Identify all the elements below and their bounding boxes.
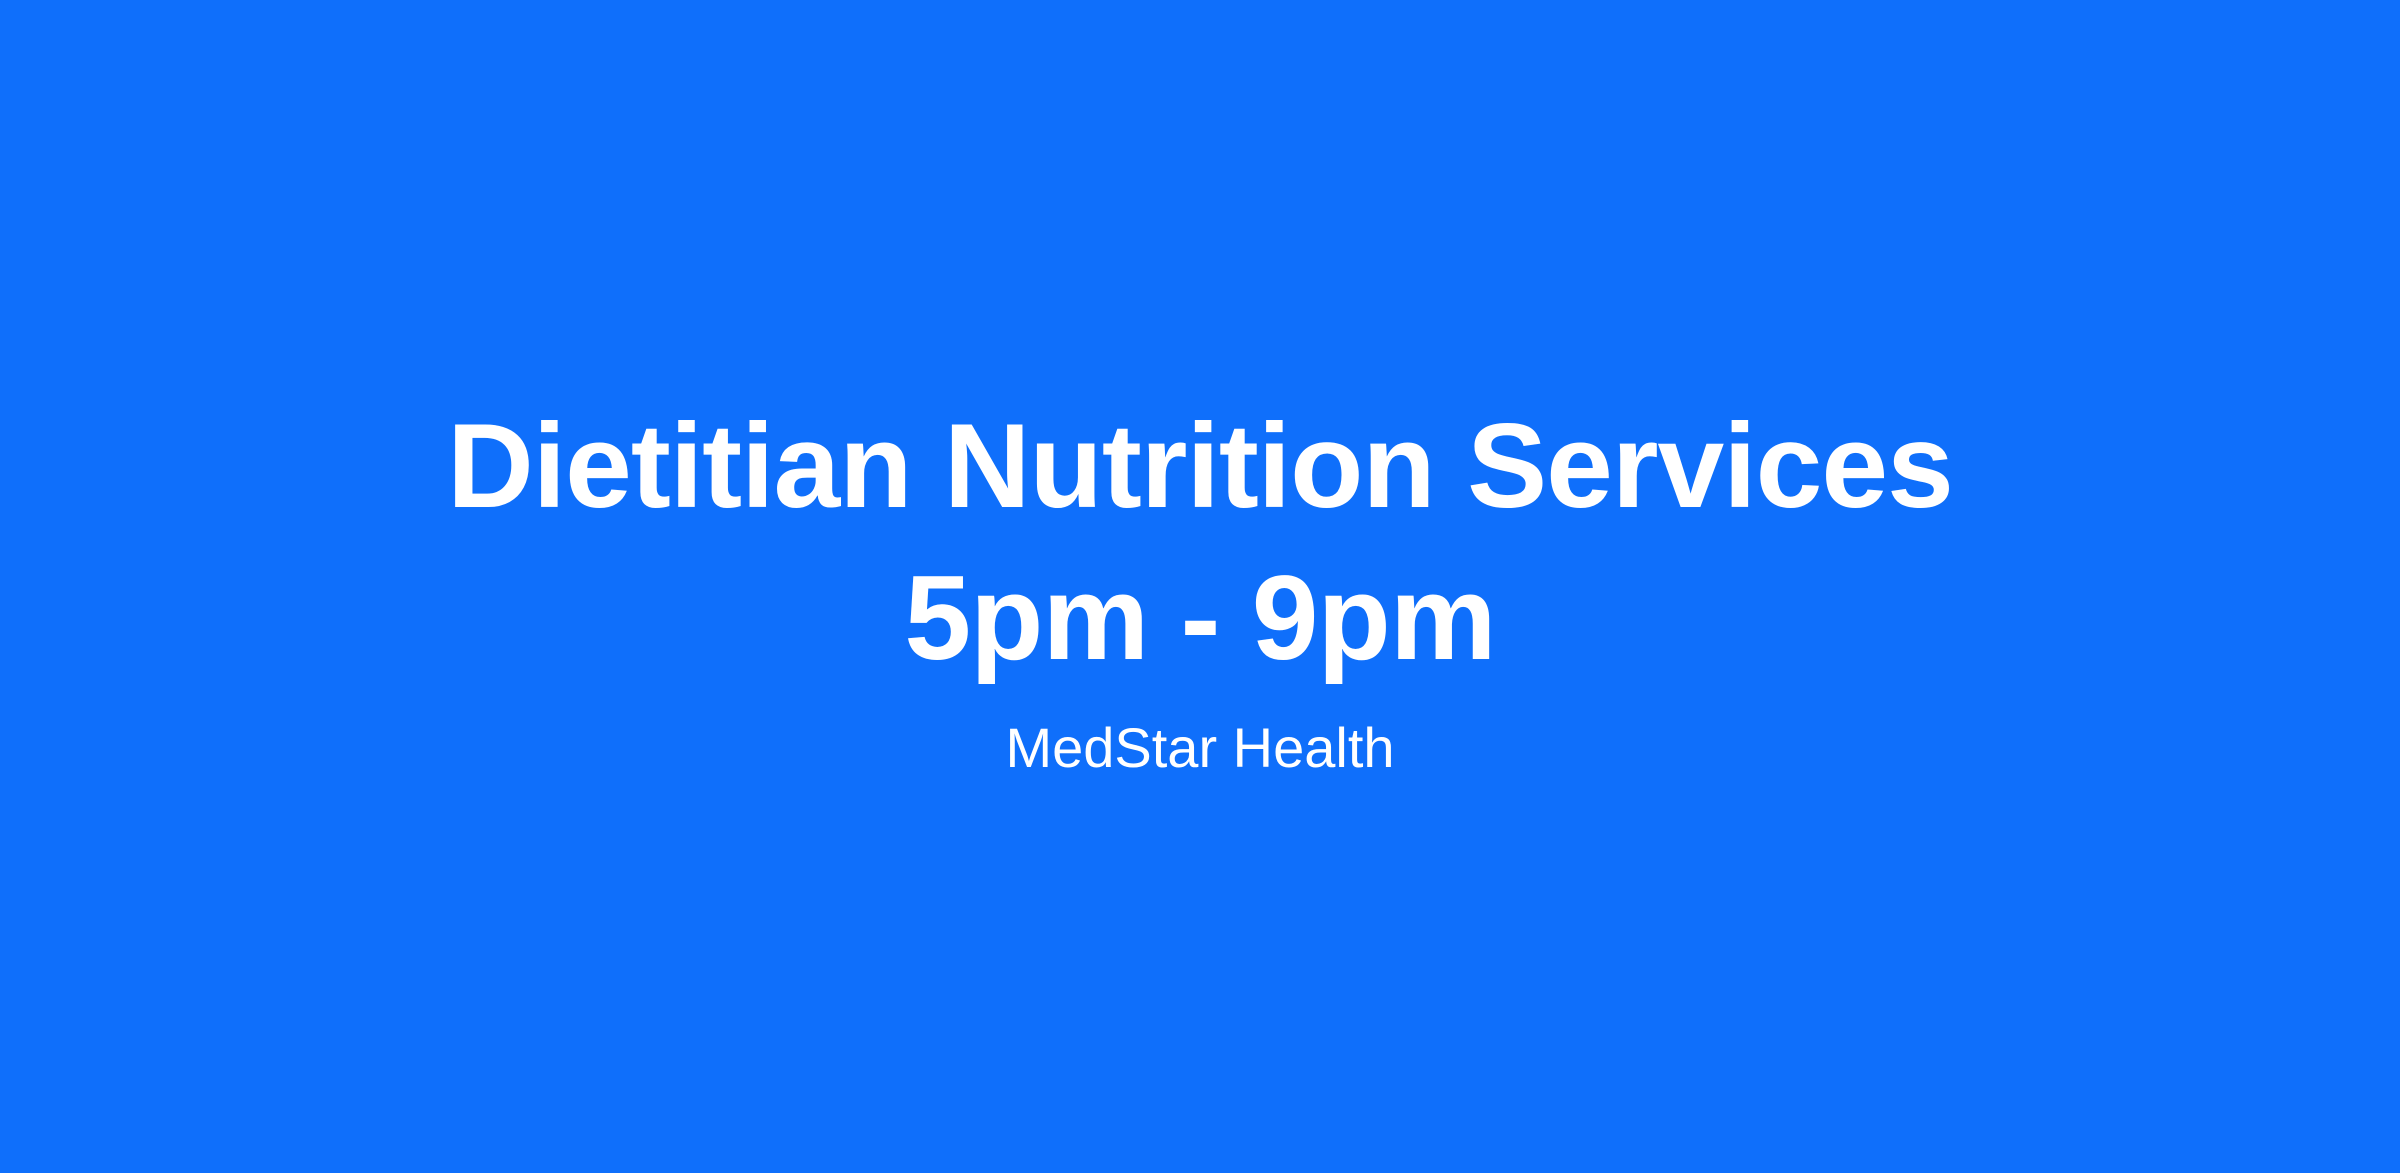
slide-subtitle: MedStar Health [1005,694,1394,784]
slide-content: Dietitian Nutrition Services 5pm - 9pm M… [0,390,2400,784]
headline-line-1: Dietitian Nutrition Services [447,390,1953,542]
announcement-slide: Dietitian Nutrition Services 5pm - 9pm M… [0,0,2400,1173]
slide-headline: Dietitian Nutrition Services 5pm - 9pm [447,390,1953,694]
headline-line-2: 5pm - 9pm [447,542,1953,694]
